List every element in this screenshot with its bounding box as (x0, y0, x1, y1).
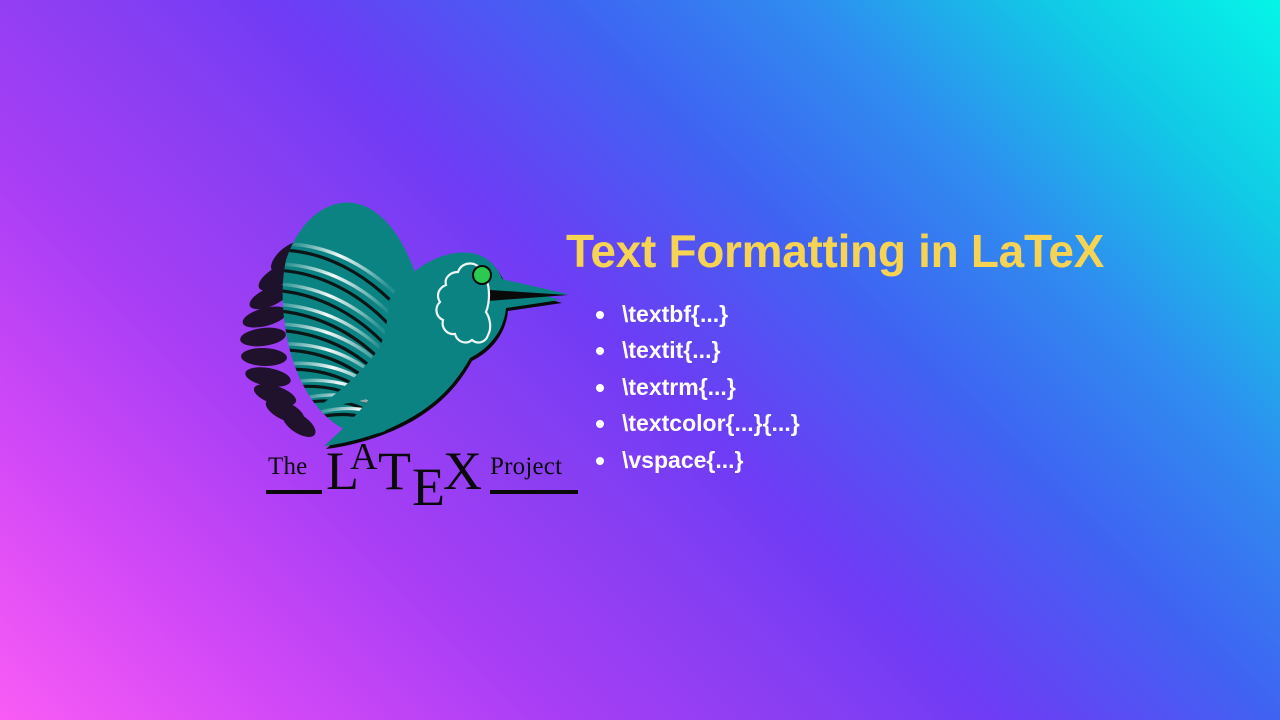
wordmark-letter-e: E (412, 460, 445, 514)
bird-eye (472, 265, 492, 285)
wordmark-letter-t: T (378, 444, 411, 498)
slide-title: Text Formatting in LaTeX (566, 226, 1226, 278)
slide-canvas: The L A T E X Project Text Formatting in… (0, 0, 1280, 720)
list-item: \textcolor{...}{...} (566, 405, 1226, 442)
wordmark-rule-left (266, 490, 322, 494)
command-list: \textbf{...} \textit{...} \textrm{...} \… (566, 296, 1226, 479)
wordmark-letter-a: A (350, 438, 377, 476)
wordmark-letter-x: X (443, 444, 482, 498)
list-item: \textbf{...} (566, 296, 1226, 333)
wordmark-rule-right (490, 490, 578, 494)
list-item: \textrm{...} (566, 369, 1226, 406)
content-column: Text Formatting in LaTeX \textbf{...} \t… (566, 226, 1226, 478)
hummingbird-icon (238, 190, 578, 450)
wordmark-project: Project (490, 454, 562, 479)
wordmark-latex: L A T E X (326, 438, 486, 500)
wordmark-the: The (268, 454, 307, 479)
latex-wordmark: The L A T E X Project (250, 440, 580, 502)
list-item: \textit{...} (566, 332, 1226, 369)
bird-beak (488, 276, 568, 301)
list-item: \vspace{...} (566, 442, 1226, 479)
hummingbird-svg (238, 190, 578, 450)
latex-project-logo: The L A T E X Project (238, 190, 578, 510)
